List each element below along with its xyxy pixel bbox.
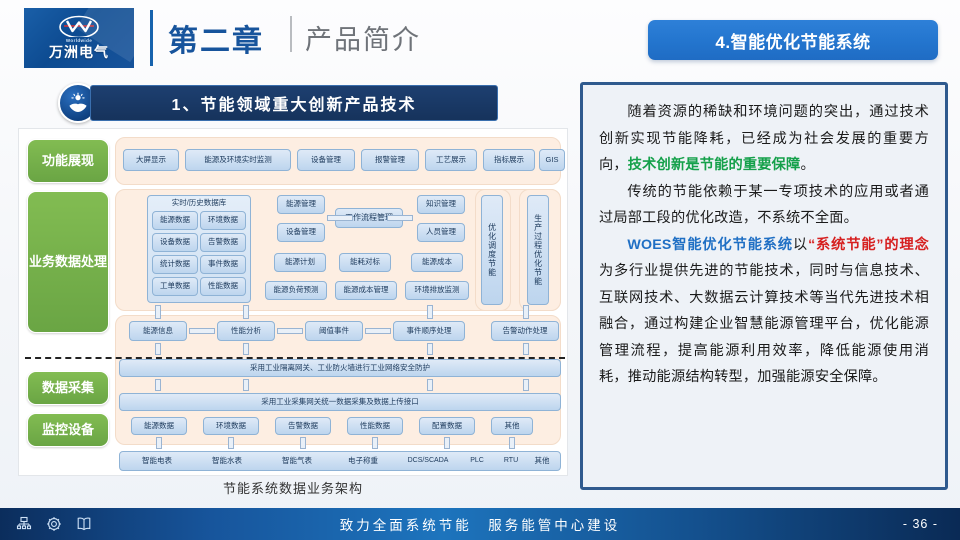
down-arrow — [523, 379, 529, 391]
data-type-box: 配置数据 — [419, 417, 475, 435]
device-label: 智能水表 — [201, 453, 253, 469]
process-box: 阈值事件 — [305, 321, 363, 341]
up-arrow — [155, 343, 161, 355]
flow-arrow — [277, 328, 303, 334]
p1-highlight: 技术创新是节能的重要保障 — [628, 157, 801, 173]
topic-badge: 4.智能优化节能系统 — [648, 20, 938, 60]
down-arrow — [427, 379, 433, 391]
chapter-title: 第二章 — [168, 16, 264, 60]
w-emblem-icon — [58, 15, 100, 37]
data-type-box: 告警数据 — [275, 417, 331, 435]
section-header: 1、节能领域重大创新产品技术 — [58, 85, 498, 121]
business-box: 环境排放监测 — [405, 281, 469, 300]
function-box: GIS — [539, 149, 565, 171]
function-box: 指标展示 — [483, 149, 535, 171]
business-box: 人员管理 — [417, 223, 465, 242]
topic-badge-label: 4.智能优化节能系统 — [715, 28, 870, 53]
device-label: RTU — [497, 453, 525, 469]
page-number: - 36 - — [903, 517, 938, 531]
chapter-subtitle: 产品简介 — [305, 18, 421, 57]
db-item: 环境数据 — [200, 211, 246, 230]
business-box: 设备管理 — [277, 223, 325, 242]
slide-footer: 致力全面系统节能 服务能管中心建设 - 36 - — [0, 508, 960, 540]
title-separator — [290, 16, 292, 52]
layer-label-business: 业务数据处理 — [27, 191, 109, 333]
arrow-to-workflow-right — [387, 215, 413, 221]
flow-arrow — [365, 328, 391, 334]
db-item: 统计数据 — [152, 255, 198, 274]
layer-label-function: 功能展现 — [27, 139, 109, 183]
paragraph-2: 传统的节能依赖于某一专项技术的应用或者通过局部工段的优化改造，不系统不全面。 — [599, 179, 929, 232]
p3-part-a: 以 — [793, 237, 808, 253]
p3-part-b: 为多行业提供先进的节能技术，同时与信息技术、互联网技术、大数据云计算技术等当代先… — [599, 263, 929, 385]
business-box: 能源计划 — [274, 253, 326, 272]
paragraph-1: 随着资源的稀缺和环境问题的突出，通过技术创新实现节能降耗，已经成为社会发展的重要… — [599, 99, 929, 179]
device-label: 智能电表 — [131, 453, 183, 469]
footer-slogan: 致力全面系统节能 服务能管中心建设 — [0, 514, 960, 534]
db-item: 事件数据 — [200, 255, 246, 274]
device-label: DCS/SCADA — [399, 453, 457, 469]
bidir-arrow — [228, 437, 234, 449]
device-label: 电子称重 — [337, 453, 389, 469]
device-label: PLC — [463, 453, 491, 469]
bidir-arrow — [300, 437, 306, 449]
bidir-arrow — [156, 437, 162, 449]
up-arrow — [523, 343, 529, 355]
section-title: 1、节能领域重大创新产品技术 — [172, 91, 417, 115]
architecture-diagram: 功能展现 业务数据处理 数据采集 监控设备 大屏显示 能源及环境实时监测 设备管… — [18, 128, 568, 476]
company-logo: Worldwide 万洲电气 — [24, 8, 134, 68]
gateway-bar: 采用工业采集网关统一数据采集及数据上传接口 — [119, 393, 561, 411]
down-arrow — [243, 379, 249, 391]
flow-arrow — [189, 328, 215, 334]
data-type-box: 能源数据 — [131, 417, 187, 435]
alarm-action-box: 告警动作处理 — [491, 321, 559, 341]
paragraph-3: WOES智能优化节能系统以“系统节能”的理念为多行业提供先进的节能技术，同时与信… — [599, 232, 929, 391]
layer-label-devices: 监控设备 — [27, 413, 109, 447]
section-title-bar: 1、节能领域重大创新产品技术 — [90, 85, 498, 121]
up-arrow — [427, 343, 433, 355]
function-box: 报警管理 — [361, 149, 419, 171]
vertical-box-production: 生产过程优化节能 — [527, 195, 549, 305]
down-arrow — [155, 379, 161, 391]
function-box: 工艺展示 — [425, 149, 477, 171]
up-arrow — [427, 305, 433, 319]
bidir-arrow — [372, 437, 378, 449]
db-item: 工单数据 — [152, 277, 198, 296]
device-label: 其他 — [527, 453, 557, 469]
db-item: 性能数据 — [200, 277, 246, 296]
security-bar: 采用工业隔离网关、工业防火墙进行工业网络安全防护 — [119, 359, 561, 377]
process-box: 能源信息 — [129, 321, 187, 341]
business-box: 能耗对标 — [339, 253, 391, 272]
header-accent-divider — [150, 10, 153, 66]
process-box: 性能分析 — [217, 321, 275, 341]
bidir-arrow — [509, 437, 515, 449]
p3-concept-highlight: “系统节能”的理念 — [808, 237, 929, 253]
diagram-caption: 节能系统数据业务架构 — [18, 478, 568, 497]
layer-label-business-text: 业务数据处理 — [29, 254, 107, 270]
database-title: 实时/历史数据库 — [172, 199, 227, 208]
business-box: 能源管理 — [277, 195, 325, 214]
business-box: 知识管理 — [417, 195, 465, 214]
business-box: 能源成本管理 — [335, 281, 397, 300]
arrow-to-workflow-left — [327, 215, 353, 221]
data-type-box: 性能数据 — [347, 417, 403, 435]
description-panel: 随着资源的稀缺和环境问题的突出，通过技术创新实现节能降耗，已经成为社会发展的重要… — [580, 82, 948, 490]
business-box: 能源负荷预测 — [265, 281, 327, 300]
up-arrow — [155, 305, 161, 319]
up-arrow — [243, 343, 249, 355]
layer-label-collection: 数据采集 — [27, 371, 109, 405]
p3-product-name: WOES智能优化节能系统 — [627, 237, 793, 253]
business-box: 能源成本 — [411, 253, 463, 272]
data-type-box: 其他 — [491, 417, 533, 435]
db-item: 告警数据 — [200, 233, 246, 252]
function-box: 设备管理 — [297, 149, 355, 171]
function-box: 大屏显示 — [123, 149, 179, 171]
logo-brand-cn: 万洲电气 — [49, 44, 109, 61]
up-arrow — [243, 305, 249, 319]
p1-part-b: 。 — [800, 157, 814, 173]
process-box: 事件顺序处理 — [393, 321, 465, 341]
device-label: 智能气表 — [271, 453, 323, 469]
function-box: 能源及环境实时监测 — [185, 149, 291, 171]
up-arrow — [523, 305, 529, 319]
data-type-box: 环境数据 — [203, 417, 259, 435]
db-item: 能源数据 — [152, 211, 198, 230]
bidir-arrow — [444, 437, 450, 449]
vertical-box-dispatch: 优化调度节能 — [481, 195, 503, 305]
db-item: 设备数据 — [152, 233, 198, 252]
slide-header: Worldwide 万洲电气 第二章 产品简介 4.智能优化节能系统 — [0, 0, 960, 76]
